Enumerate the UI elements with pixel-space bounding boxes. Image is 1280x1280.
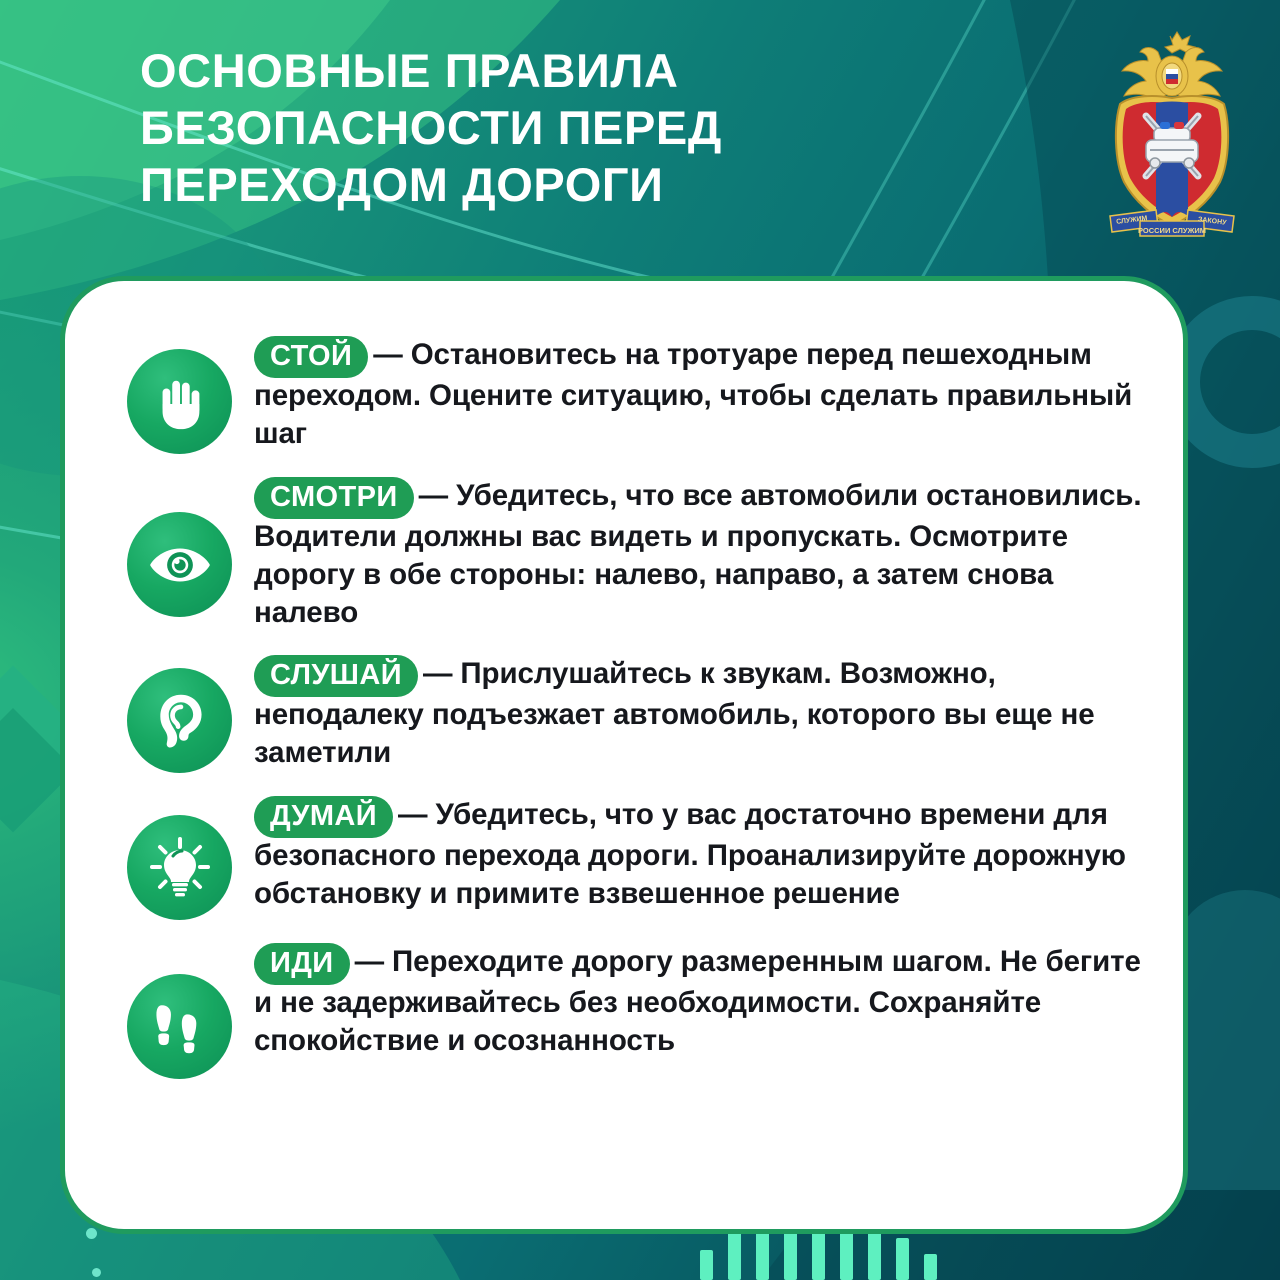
rule-badge-think: ДУМАЙ [254, 796, 393, 838]
rule-badge-look: СМОТРИ [254, 477, 414, 519]
rule-body-go: — Переходите дорогу размеренным шагом. Н… [254, 945, 1141, 1057]
hand-stop-glyph [149, 371, 211, 433]
rule-item-think: ДУМАЙ— Убедитесь, что у вас достаточно в… [127, 793, 1153, 920]
rule-item-look: СМОТРИ— Убедитесь, что все автомобили ос… [127, 474, 1153, 632]
rule-item-go: ИДИ— Переходите дорогу размеренным шагом… [127, 940, 1153, 1079]
footprints-icon [127, 974, 232, 1079]
gibdd-emblem-icon: РОССИИ СЛУЖИМ СЛУЖИМ ЗАКОНУ [1096, 24, 1248, 242]
eye-glyph [147, 532, 213, 598]
hand-stop-icon [127, 349, 232, 454]
rule-badge-go: ИДИ [254, 943, 350, 985]
eye-icon [127, 512, 232, 617]
rule-badge-stop: СТОЙ [254, 336, 368, 378]
footprints-glyph [151, 998, 209, 1056]
rule-text-listen: СЛУШАЙ— Прислушайтесь к звукам. Возможно… [254, 652, 1153, 772]
rule-text-go: ИДИ— Переходите дорогу размеренным шагом… [254, 940, 1153, 1060]
title-line-3: ПЕРЕХОДОМ ДОРОГИ [140, 156, 900, 213]
rule-text-look: СМОТРИ— Убедитесь, что все автомобили ос… [254, 474, 1153, 632]
title-line-2: БЕЗОПАСНОСТИ ПЕРЕД [140, 99, 900, 156]
rule-body-stop: — Остановитесь на тротуаре перед пешеход… [254, 338, 1132, 450]
rule-item-listen: СЛУШАЙ— Прислушайтесь к звукам. Возможно… [127, 652, 1153, 773]
svg-text:РОССИИ СЛУЖИМ: РОССИИ СЛУЖИМ [1138, 226, 1206, 235]
lightbulb-icon [127, 815, 232, 920]
emblem-svg: РОССИИ СЛУЖИМ СЛУЖИМ ЗАКОНУ [1096, 24, 1248, 242]
ear-glyph [150, 691, 210, 751]
rules-list: СТОЙ— Остановитесь на тротуаре перед пеш… [65, 281, 1183, 1079]
ear-icon [127, 668, 232, 773]
lightbulb-glyph [148, 836, 212, 900]
title-line-1: ОСНОВНЫЕ ПРАВИЛА [140, 42, 900, 99]
rule-text-stop: СТОЙ— Остановитесь на тротуаре перед пеш… [254, 333, 1153, 453]
rule-badge-listen: СЛУШАЙ [254, 655, 418, 697]
rule-item-stop: СТОЙ— Остановитесь на тротуаре перед пеш… [127, 333, 1153, 454]
poster-root: ОСНОВНЫЕ ПРАВИЛА БЕЗОПАСНОСТИ ПЕРЕД ПЕРЕ… [0, 0, 1280, 1280]
rule-text-think: ДУМАЙ— Убедитесь, что у вас достаточно в… [254, 793, 1153, 913]
rules-card: СТОЙ— Остановитесь на тротуаре перед пеш… [60, 276, 1188, 1234]
page-title: ОСНОВНЫЕ ПРАВИЛА БЕЗОПАСНОСТИ ПЕРЕД ПЕРЕ… [140, 42, 900, 213]
